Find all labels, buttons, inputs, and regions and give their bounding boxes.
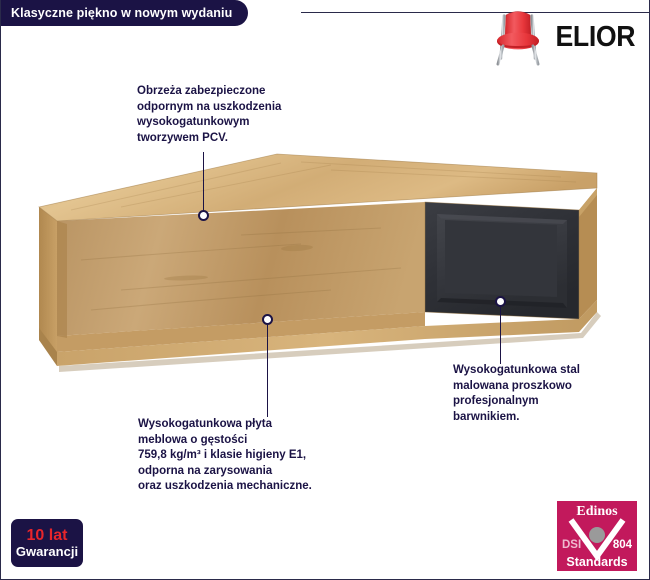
edinos-standards-badge: Edinos DSI 804 Standards	[557, 501, 637, 571]
edinos-dsi: DSI	[562, 539, 581, 551]
marker-dot-steel	[495, 296, 506, 307]
callout-board-text: Wysokogatunkowa płyta meblowa o gęstości…	[138, 417, 398, 495]
warranty-years: 10 lat	[27, 527, 68, 544]
callout-steel: Wysokogatunkowa stal malowana proszkowo …	[453, 363, 643, 425]
page-title: Klasyczne piękno w nowym wydaniu	[11, 6, 232, 20]
header-banner: Klasyczne piękno w nowym wydaniu	[1, 0, 248, 26]
callout-board: Wysokogatunkowa płyta meblowa o gęstości…	[138, 417, 398, 495]
leader-line-edge	[203, 152, 204, 215]
marker-dot-edge	[198, 210, 209, 221]
red-chair-icon	[491, 6, 545, 68]
marker-dot-board	[262, 314, 273, 325]
callout-steel-text: Wysokogatunkowa stal malowana proszkowo …	[453, 363, 643, 425]
callout-edge: Obrzeża zabezpieczone odpornym na uszkod…	[137, 84, 387, 146]
warranty-label: Gwarancji	[16, 544, 78, 559]
leader-line-board	[267, 325, 268, 417]
infographic-page: Klasyczne piękno w nowym wydaniu	[0, 0, 650, 580]
warranty-badge: 10 lat Gwarancji	[11, 519, 83, 567]
leader-line-steel	[500, 306, 501, 364]
product-illustration	[1, 140, 650, 390]
edinos-number: 804	[613, 539, 632, 551]
callout-edge-text: Obrzeża zabezpieczone odpornym na uszkod…	[137, 84, 387, 146]
brand-name: ELIOR	[556, 23, 636, 52]
brand-logo: ELIOR	[491, 6, 639, 68]
edinos-standards-label: Standards	[557, 555, 637, 569]
